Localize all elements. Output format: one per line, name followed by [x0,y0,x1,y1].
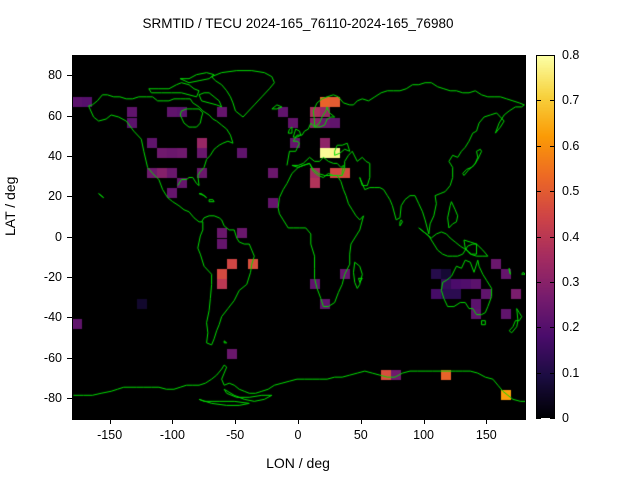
colorbar-tick-label: 0.3 [562,275,579,289]
x-axis-title: LON / deg [72,455,524,471]
y-tick-label: -40 [0,310,62,324]
y-tick-label: 80 [0,68,62,82]
colorbar-tick-label: 0.5 [562,184,579,198]
y-tick-mark [67,196,72,197]
y-tick-mark [67,156,72,157]
y-tick-mark [67,317,72,318]
y-tick-label: 40 [0,149,62,163]
colorbar-tick-mark [536,191,541,192]
colorbar-tick-mark [550,327,555,328]
colorbar-tick-mark [536,418,541,419]
colorbar-tick-label: 0.4 [562,230,579,244]
y-tick-label: -80 [0,391,62,405]
map-plot-area[interactable] [72,55,526,420]
x-tick-label: 0 [295,428,302,442]
world-map-heatmap-canvas [73,56,525,419]
colorbar-tick-mark [536,55,541,56]
x-tick-mark [298,419,299,424]
x-tick-mark [172,419,173,424]
y-tick-mark [67,358,72,359]
colorbar-tick-label: 0.6 [562,139,579,153]
figure-container: SRMTID / TECU 2024-165_76110-2024-165_76… [0,0,640,480]
y-tick-mark [67,116,72,117]
colorbar-tick-mark [536,327,541,328]
colorbar-tick-mark [536,146,541,147]
x-tick-mark [486,419,487,424]
y-tick-label: -20 [0,270,62,284]
x-tick-label: 50 [354,428,368,442]
colorbar-tick-mark [550,237,555,238]
y-tick-mark [67,277,72,278]
colorbar-tick-mark [550,146,555,147]
y-tick-label: 60 [0,109,62,123]
colorbar-tick-label: 0.1 [562,366,579,380]
colorbar-tick-mark [536,100,541,101]
colorbar-tick-mark [550,282,555,283]
colorbar-tick-mark [550,373,555,374]
y-axis-title: LAT / deg [2,177,18,236]
x-tick-mark [361,419,362,424]
colorbar-tick-mark [550,55,555,56]
x-tick-label: 150 [476,428,497,442]
x-tick-mark [424,419,425,424]
colorbar-tick-label: 0.8 [562,48,579,62]
colorbar-tick-mark [536,373,541,374]
y-tick-label: -60 [0,351,62,365]
x-tick-label: -100 [160,428,185,442]
colorbar-tick-mark [536,237,541,238]
x-tick-label: -150 [97,428,122,442]
colorbar-tick-mark [550,418,555,419]
y-tick-mark [67,75,72,76]
x-tick-label: -50 [226,428,244,442]
y-tick-mark [67,237,72,238]
x-tick-label: 100 [413,428,434,442]
colorbar-tick-mark [550,100,555,101]
colorbar-tick-label: 0 [562,411,569,425]
colorbar-tick-mark [550,191,555,192]
colorbar-tick-mark [536,282,541,283]
colorbar-tick-label: 0.7 [562,93,579,107]
y-tick-mark [67,398,72,399]
chart-title: SRMTID / TECU 2024-165_76110-2024-165_76… [0,16,596,31]
colorbar-tick-label: 0.2 [562,320,579,334]
x-tick-mark [110,419,111,424]
x-tick-mark [235,419,236,424]
